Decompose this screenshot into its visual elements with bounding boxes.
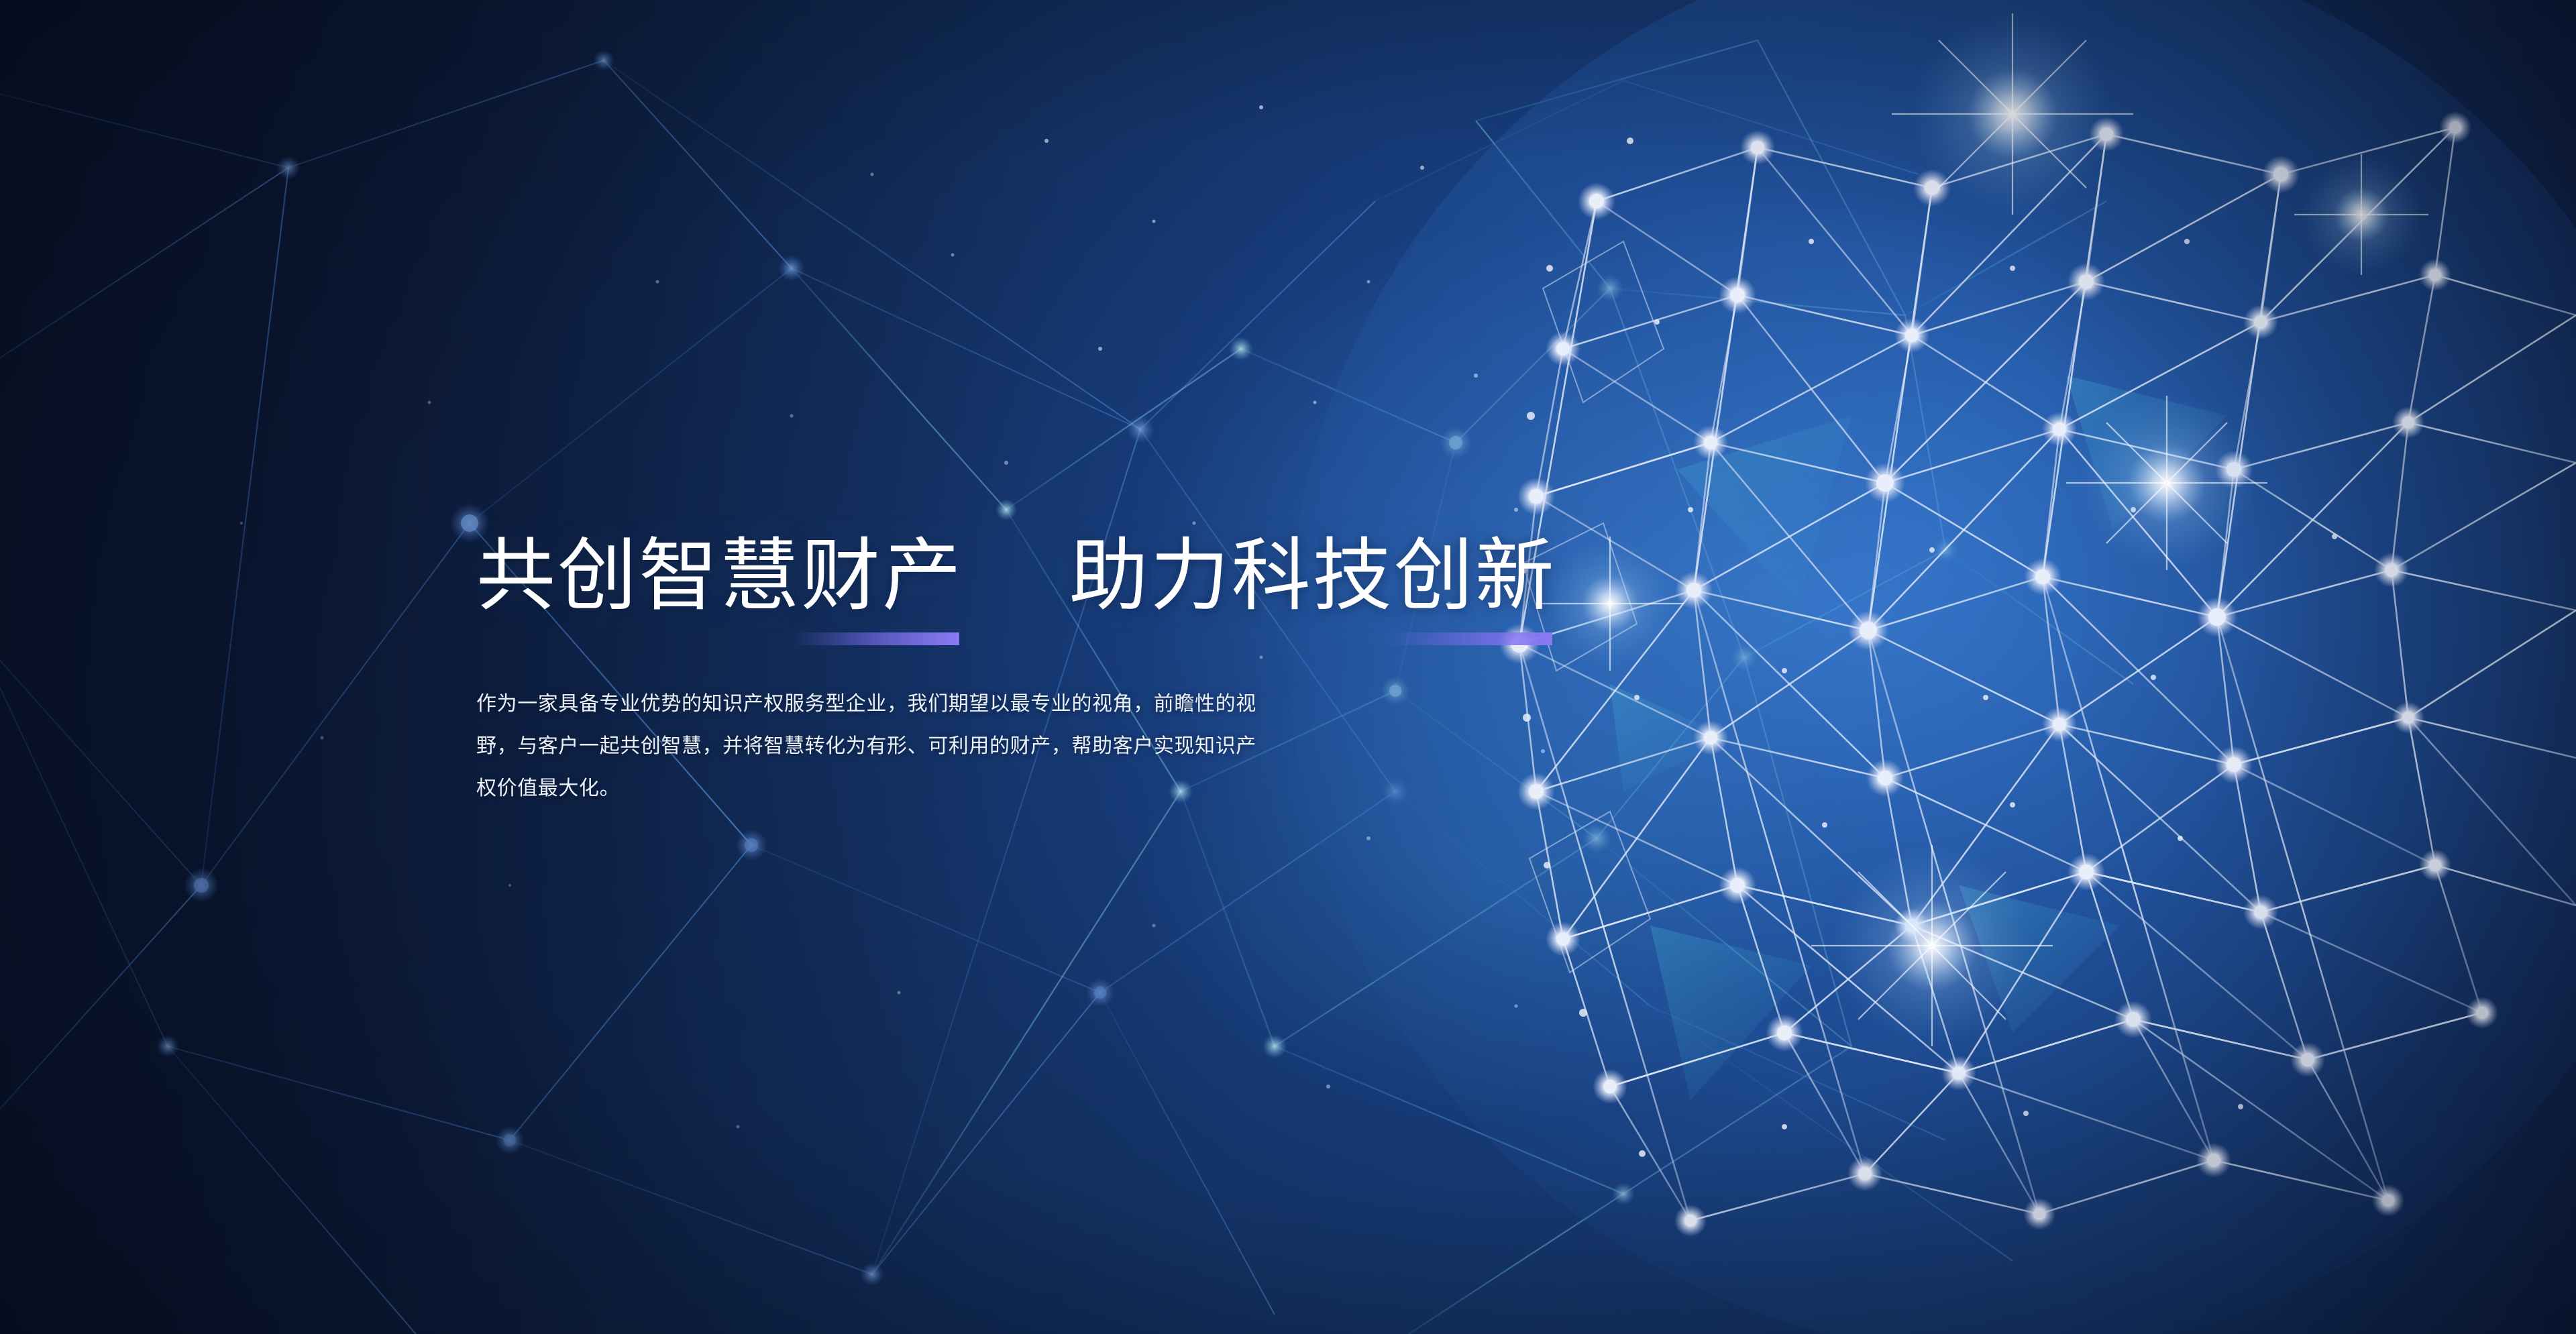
hero-banner: 共创智慧财产 助力科技创新 作为一家具备专业优势的知识产权服务型企业，我们期望以… bbox=[0, 0, 2576, 1334]
headline-accent-bar-1 bbox=[792, 632, 959, 645]
headline-phrase-1-wrap: 共创智慧财产 bbox=[476, 537, 963, 616]
headline-phrase-2: 助力科技创新 bbox=[1069, 532, 1556, 620]
headline-phrase-1: 共创智慧财产 bbox=[476, 532, 963, 620]
hero-body-paragraph: 作为一家具备专业优势的知识产权服务型企业，我们期望以最专业的视角，前瞻性的视野，… bbox=[476, 683, 1265, 810]
headline-phrase-2-wrap: 助力科技创新 bbox=[1069, 537, 1556, 616]
headline-accent-bar-2 bbox=[1385, 632, 1552, 645]
hero-copy-block: 共创智慧财产 助力科技创新 作为一家具备专业优势的知识产权服务型企业，我们期望以… bbox=[476, 537, 1469, 830]
hero-headline: 共创智慧财产 助力科技创新 bbox=[476, 537, 1469, 616]
